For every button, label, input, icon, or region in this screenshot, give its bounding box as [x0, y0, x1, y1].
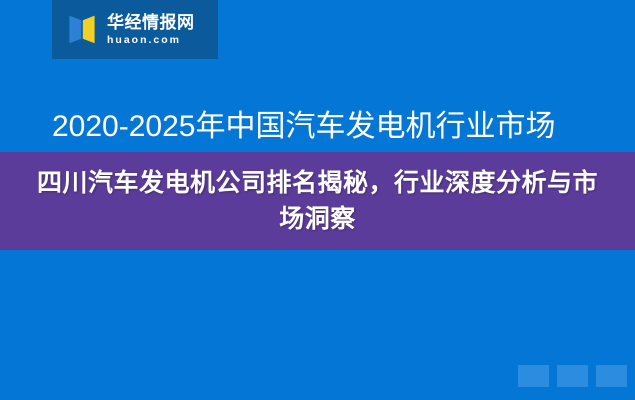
decorative-square	[557, 365, 588, 387]
logo-domain: huaon.com	[107, 35, 195, 46]
logo-text-block: 华经情报网 huaon.com	[107, 14, 195, 46]
overlay-headline: 四川汽车发电机公司排名揭秘，行业深度分析与市场洞察	[28, 165, 608, 237]
headline-overlay-band: 四川汽车发电机公司排名揭秘，行业深度分析与市场洞察	[0, 152, 635, 250]
logo-chinese-name: 华经情报网	[107, 14, 195, 31]
decorative-squares	[518, 365, 628, 387]
poster-canvas: 华经情报网 huaon.com 2020-2025年中国汽车发电机行业市场 四川…	[0, 0, 635, 400]
huaon-logo-badge[interactable]: 华经情报网 huaon.com	[52, 0, 218, 59]
open-book-butterfly-icon	[66, 15, 98, 45]
page-title: 2020-2025年中国汽车发电机行业市场	[52, 107, 612, 147]
decorative-square	[518, 365, 549, 387]
decorative-square	[596, 365, 627, 387]
